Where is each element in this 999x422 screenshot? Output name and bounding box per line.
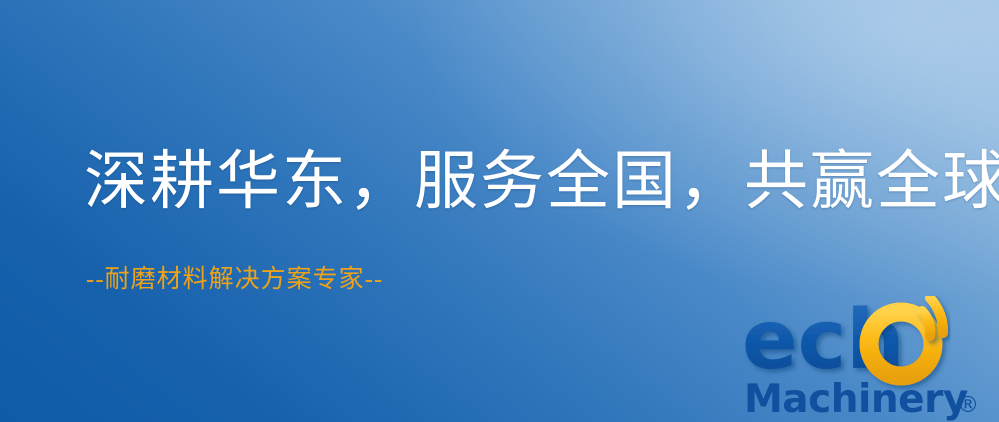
promo-banner: 深耕华东，服务全国，共赢全球 --耐磨材料解决方案专家-- [0, 0, 999, 422]
logo-tagline-group: Machinery ® [744, 377, 979, 422]
echo-machinery-logo[interactable]: ech Machinery ® [742, 296, 999, 422]
banner-subtitle: --耐磨材料解决方案专家-- [86, 266, 383, 294]
banner-headline: 深耕华东，服务全国，共赢全球 [84, 150, 999, 214]
logo-trademark-symbol: ® [957, 393, 979, 418]
logo-tagline-text: Machinery [744, 377, 968, 422]
